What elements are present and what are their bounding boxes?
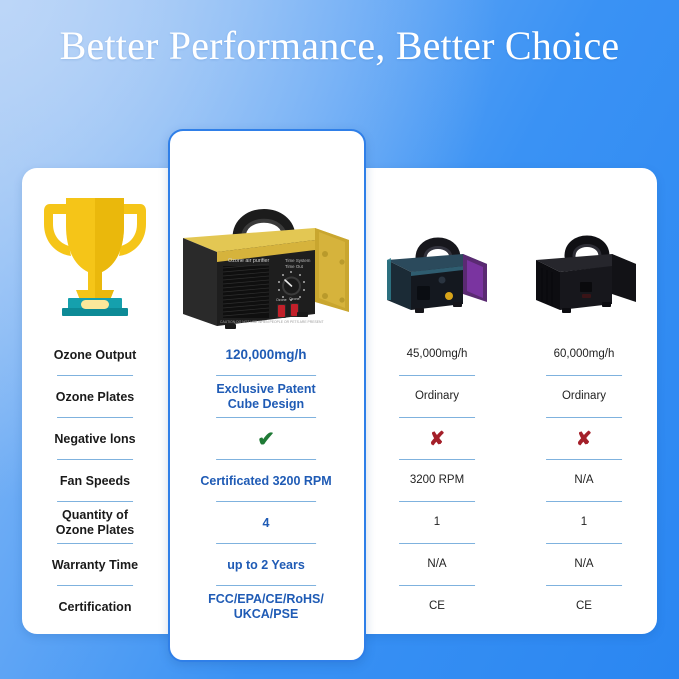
value-text: N/A xyxy=(574,558,593,572)
row-value-featured: 120,000mg/h xyxy=(170,334,362,376)
check-icon: ✔ xyxy=(257,429,275,450)
row-label-text: Ozone Plates xyxy=(56,390,135,405)
row-value-competitor: 3200 RPM xyxy=(364,460,510,502)
competitor-2-product-cell xyxy=(511,168,657,334)
product-image-black-ozone-generator xyxy=(522,224,646,325)
row-value-competitor: N/A xyxy=(364,544,510,586)
featured-product-cell: Ozone air purifier xyxy=(170,168,362,334)
row-value-featured: FCC/EPA/CE/RoHS/UKCA/PSE xyxy=(170,586,362,628)
row-value-competitor: ✘ xyxy=(364,418,510,460)
page-title: Better Performance, Better Choice xyxy=(0,22,679,69)
value-text: Ordinary xyxy=(562,390,606,404)
featured-rows: 120,000mg/h Exclusive PatentCube Design … xyxy=(170,334,362,628)
row-label-text: Ozone Output xyxy=(54,348,137,363)
svg-text:Ozone: Ozone xyxy=(276,298,287,302)
value-text: Exclusive PatentCube Design xyxy=(216,382,315,412)
row-value-competitor: N/A xyxy=(511,544,657,586)
row-label-text: Fan Speeds xyxy=(60,474,130,489)
row-value-featured: 4 xyxy=(170,502,362,544)
row-label: Quantity ofOzone Plates xyxy=(22,502,168,544)
svg-text:Ozone air purifier: Ozone air purifier xyxy=(228,258,270,264)
column-featured: Ozone air purifier xyxy=(170,168,362,634)
product-image-dark-teal-ozone-generator xyxy=(375,224,499,325)
comparison-grid: Ozone Output Ozone Plates Negative lons … xyxy=(22,168,657,634)
row-label-text: Negative lons xyxy=(54,432,135,447)
row-value-competitor: ✘ xyxy=(511,418,657,460)
row-value-competitor: Ordinary xyxy=(511,376,657,418)
value-text: CE xyxy=(576,600,592,614)
row-value-competitor: 1 xyxy=(511,502,657,544)
cross-icon: ✘ xyxy=(429,430,445,449)
row-value-competitor: CE xyxy=(364,586,510,628)
value-text: 3200 RPM xyxy=(410,474,464,488)
comparison-infographic: Better Performance, Better Choice xyxy=(0,0,679,679)
competitor-1-rows: 45,000mg/h Ordinary ✘ 3200 RPM 1 N/A CE xyxy=(364,334,510,628)
row-value-featured: Certificated 3200 RPM xyxy=(170,460,362,502)
column-competitor-2: 60,000mg/h Ordinary ✘ N/A 1 N/A CE xyxy=(511,168,657,634)
row-value-featured: up to 2 Years xyxy=(170,544,362,586)
value-text: CE xyxy=(429,600,445,614)
row-label: Negative lons xyxy=(22,418,168,460)
svg-text:CAUTION:DO NOT USE WHEN PEOPLE: CAUTION:DO NOT USE WHEN PEOPLE OR PETS A… xyxy=(220,320,324,324)
column-labels: Ozone Output Ozone Plates Negative lons … xyxy=(22,168,168,634)
value-text: Ordinary xyxy=(415,390,459,404)
row-label: Ozone Plates xyxy=(22,376,168,418)
value-text: 1 xyxy=(581,516,587,530)
value-text: Certificated 3200 RPM xyxy=(200,474,331,489)
value-text: N/A xyxy=(574,474,593,488)
value-text: FCC/EPA/CE/RoHS/UKCA/PSE xyxy=(208,592,324,622)
trophy-icon xyxy=(36,186,154,321)
trophy-cell xyxy=(22,168,168,334)
row-value-competitor: 1 xyxy=(364,502,510,544)
row-label: Fan Speeds xyxy=(22,460,168,502)
value-text: N/A xyxy=(427,558,446,572)
competitor-1-product-cell xyxy=(364,168,510,334)
row-label-text: Certification xyxy=(59,600,132,615)
label-rows: Ozone Output Ozone Plates Negative lons … xyxy=(22,334,168,628)
svg-text:Time Out: Time Out xyxy=(285,264,304,269)
row-value-competitor: 60,000mg/h xyxy=(511,334,657,376)
row-value-featured: ✔ xyxy=(170,418,362,460)
svg-text:Time System: Time System xyxy=(285,258,311,263)
competitor-2-rows: 60,000mg/h Ordinary ✘ N/A 1 N/A CE xyxy=(511,334,657,628)
row-label: Warranty Time xyxy=(22,544,168,586)
row-label: Ozone Output xyxy=(22,334,168,376)
row-value-competitor: N/A xyxy=(511,460,657,502)
value-text: 45,000mg/h xyxy=(407,348,468,362)
value-text: up to 2 Years xyxy=(227,558,305,573)
value-text: 60,000mg/h xyxy=(554,348,615,362)
row-value-competitor: Ordinary xyxy=(364,376,510,418)
product-image-gold-ozone-generator: Ozone air purifier xyxy=(173,180,359,345)
row-label-text: Quantity ofOzone Plates xyxy=(56,508,135,538)
value-text: 120,000mg/h xyxy=(225,347,306,363)
column-competitor-1: 45,000mg/h Ordinary ✘ 3200 RPM 1 N/A CE xyxy=(364,168,510,634)
value-text: 4 xyxy=(263,516,270,531)
row-label: Certification xyxy=(22,586,168,628)
value-text: 1 xyxy=(434,516,440,530)
row-value-featured: Exclusive PatentCube Design xyxy=(170,376,362,418)
svg-text:Ozone: Ozone xyxy=(289,297,300,301)
cross-icon: ✘ xyxy=(576,430,592,449)
row-value-competitor: 45,000mg/h xyxy=(364,334,510,376)
row-label-text: Warranty Time xyxy=(52,558,138,573)
row-value-competitor: CE xyxy=(511,586,657,628)
